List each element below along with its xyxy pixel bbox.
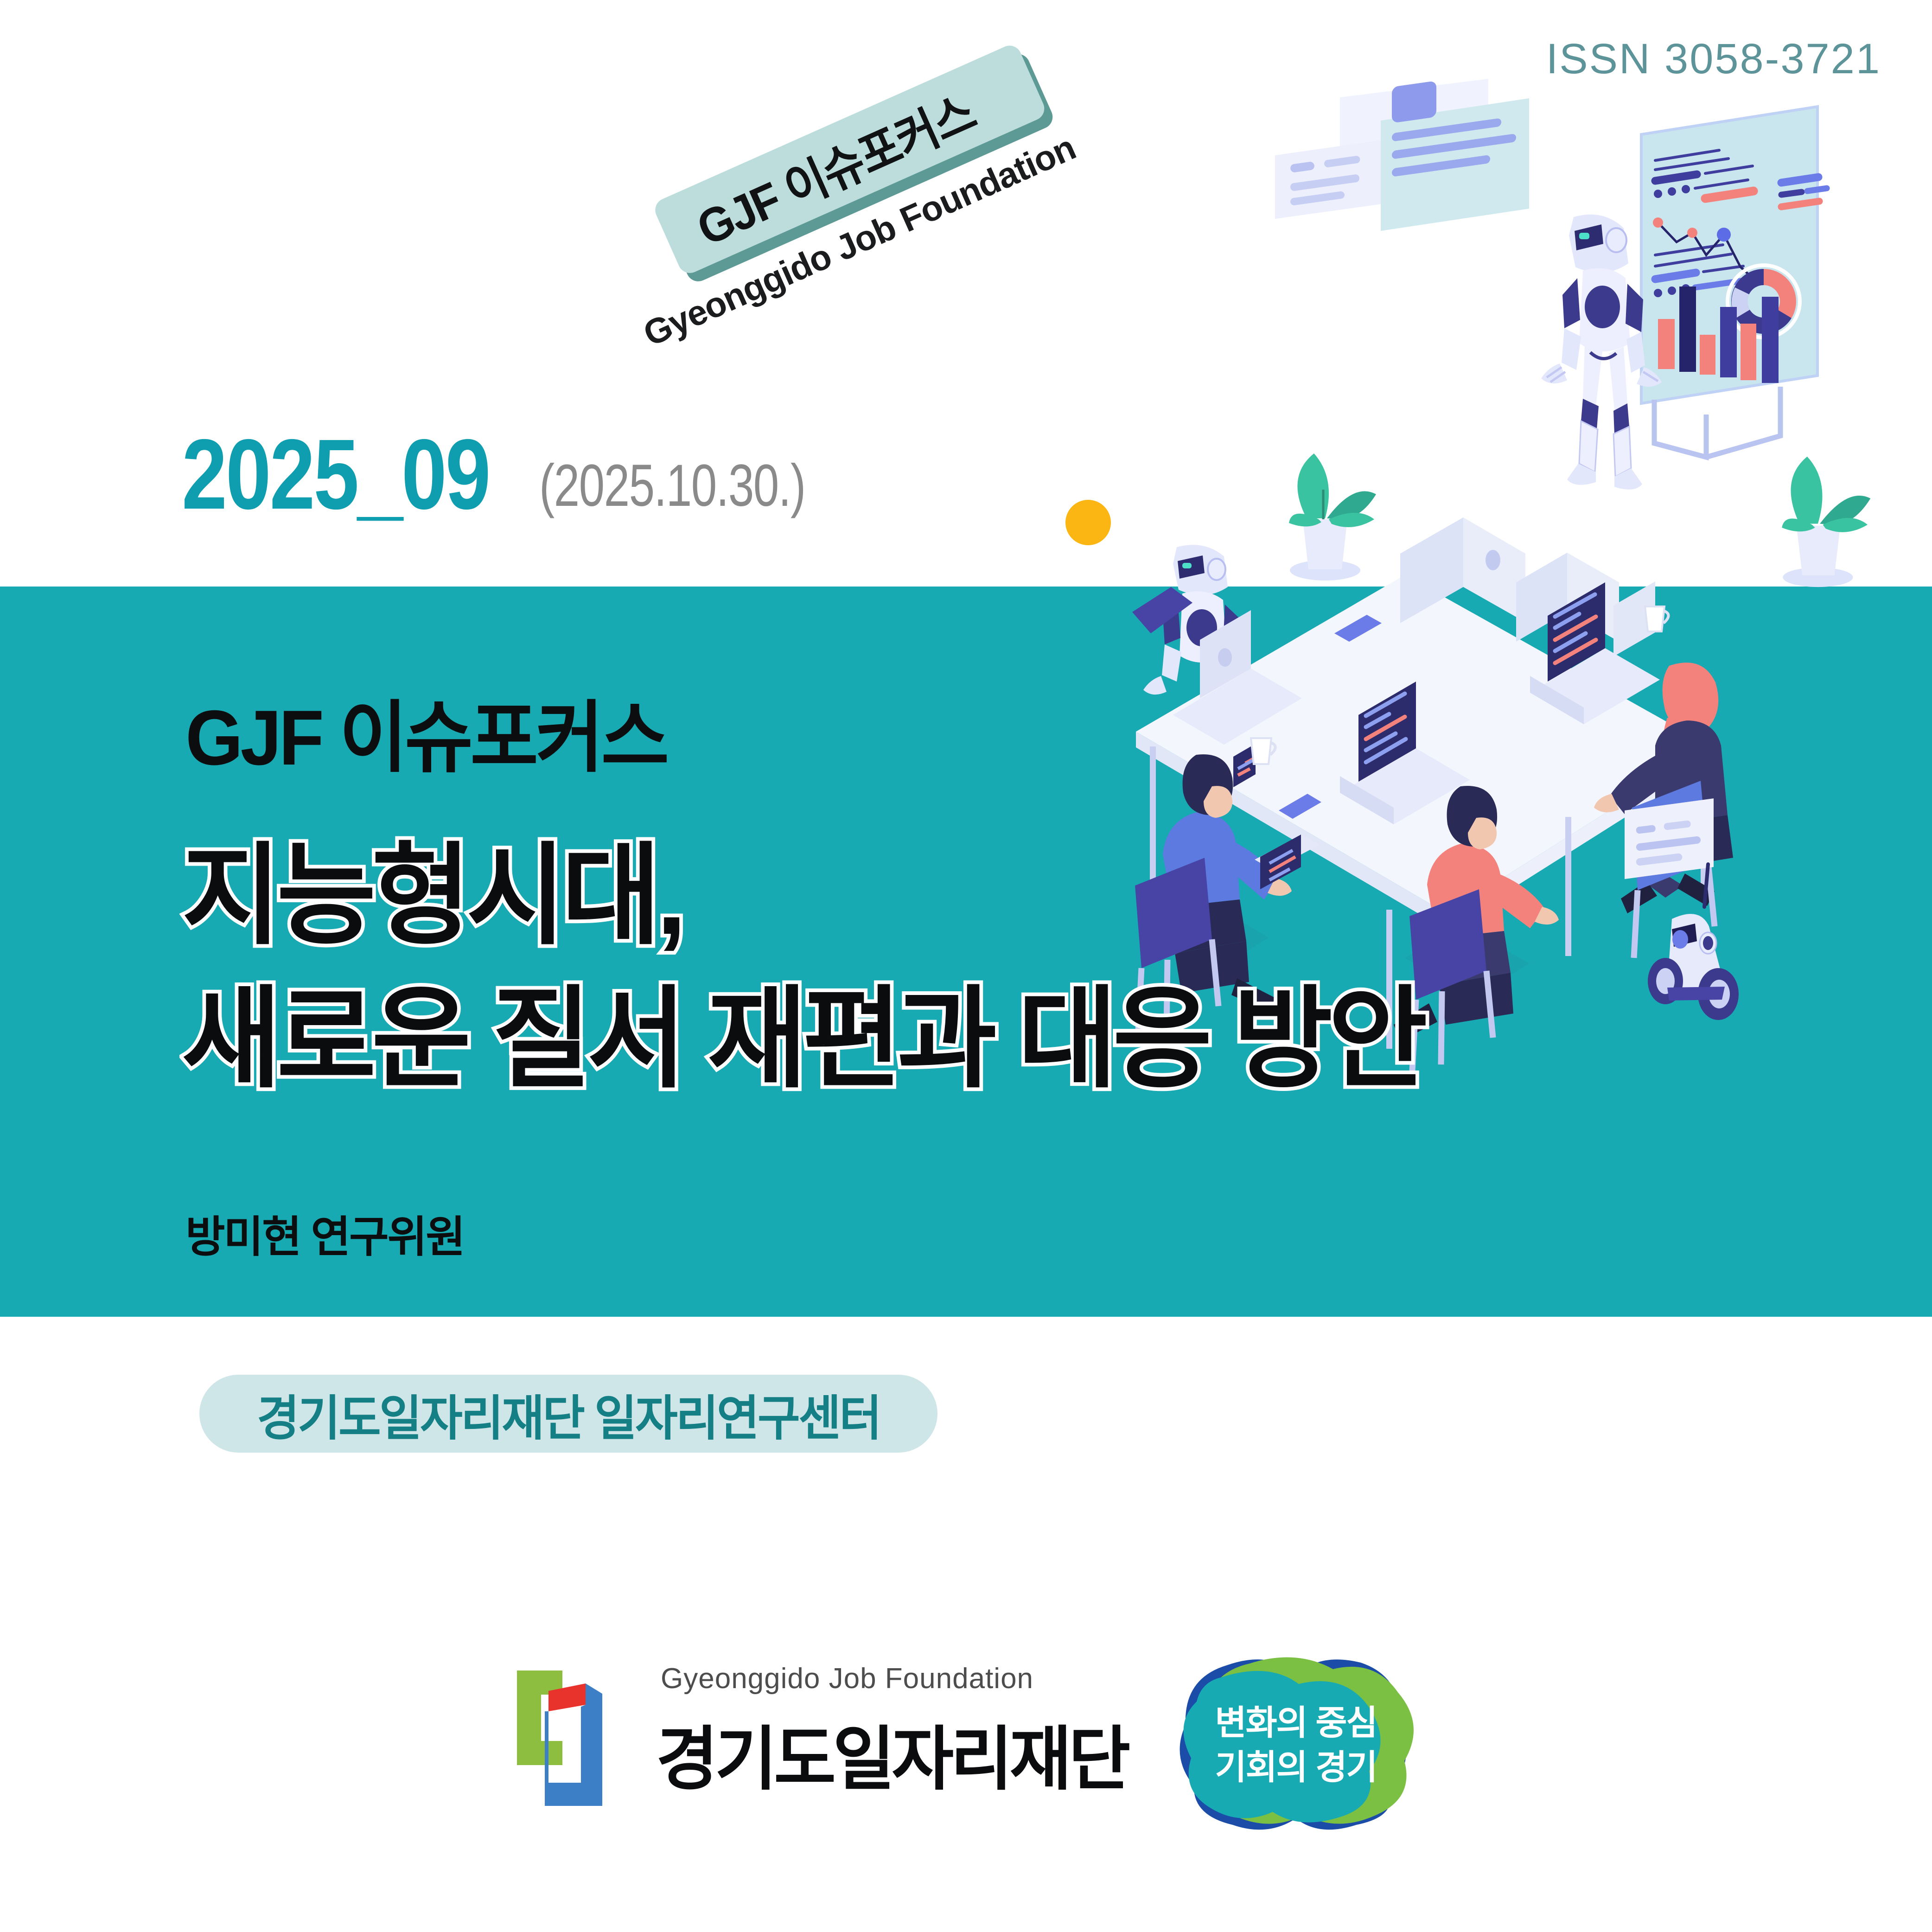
gjf-logo-en: Gyeonggido Job Foundation bbox=[661, 1662, 1033, 1695]
cover-author: 방미현 연구위원 bbox=[185, 1202, 464, 1264]
cover-eyebrow: GJF 이슈포커스 bbox=[185, 675, 667, 787]
footer: Gyeonggido Job Foundation 경기도일자리재단 변화의 중… bbox=[0, 1651, 1932, 1892]
gjf-logo: Gyeonggido Job Foundation 경기도일자리재단 bbox=[503, 1662, 1110, 1820]
potted-plant-left bbox=[1289, 453, 1376, 580]
cover-title-line2: 새로운 질서 재편과 대응 방안 bbox=[182, 968, 1423, 1111]
publisher-pill-label: 경기도일자리재단 일자리연구센터 bbox=[257, 1379, 880, 1449]
cover-title: 지능형시대, 새로운 질서 재편과 대응 방안 bbox=[182, 824, 1423, 1111]
presentation-board bbox=[1641, 107, 1827, 457]
emblem-slogan-line2: 기회의 경기 bbox=[1157, 1745, 1435, 1790]
cover-page: ISSN 3058-3721 2025_09 (2025.10.30.) GJF… bbox=[0, 0, 1932, 1932]
rover-message-card bbox=[1625, 798, 1714, 879]
gyeonggi-slogan-emblem: 변화의 중심 기회의 경기 bbox=[1157, 1655, 1435, 1855]
potted-plant-right bbox=[1782, 457, 1870, 587]
issue-number: 2025_09 bbox=[182, 424, 489, 524]
gjf-ribbon-badge: GJF 이슈포커스 Gyeonggido Job Foundation bbox=[647, 199, 1110, 459]
cover-title-line1: 지능형시대, bbox=[182, 824, 1423, 968]
gjf-logo-kr: 경기도일자리재단 bbox=[656, 1703, 1128, 1804]
publisher-pill: 경기도일자리재단 일자리연구센터 bbox=[199, 1375, 937, 1453]
emblem-slogan: 변화의 중심 기회의 경기 bbox=[1157, 1701, 1435, 1790]
emblem-slogan-line1: 변화의 중심 bbox=[1157, 1701, 1435, 1745]
gjf-logo-mark bbox=[503, 1667, 624, 1820]
issue-published-date: (2025.10.30.) bbox=[539, 456, 805, 516]
